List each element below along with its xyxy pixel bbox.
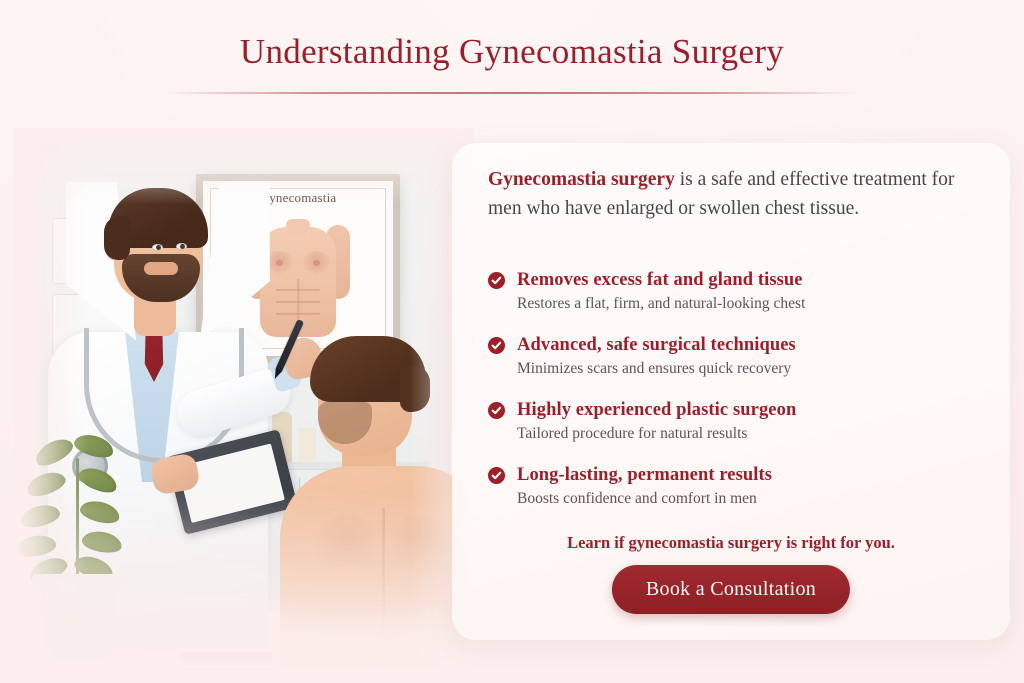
list-item: Long-lasting, permanent results Boosts c… <box>488 463 978 510</box>
benefit-title: Advanced, safe surgical techniques <box>517 333 978 357</box>
benefit-subtitle: Boosts confidence and comfort in men <box>517 488 978 510</box>
check-circle-icon <box>488 402 505 419</box>
benefit-subtitle: Minimizes scars and ensures quick recove… <box>517 358 978 380</box>
patient-figure <box>270 328 470 672</box>
title-divider <box>168 92 856 94</box>
content-card: Gynecomastia surgery is a safe and effec… <box>452 143 1010 640</box>
benefit-subtitle: Restores a flat, firm, and natural-looki… <box>517 293 978 315</box>
patient-hair <box>310 336 426 402</box>
closing-line: Learn if gynecomastia surgery is right f… <box>452 533 1010 553</box>
list-item: Advanced, safe surgical techniques Minim… <box>488 333 978 380</box>
check-circle-icon <box>488 337 505 354</box>
consultation-illustration: Gynecomastia <box>18 132 470 672</box>
doctor-belt <box>180 652 272 665</box>
benefit-title: Removes excess fat and gland tissue <box>517 268 978 292</box>
plant-pot <box>38 580 122 664</box>
benefit-title: Long-lasting, permanent results <box>517 463 978 487</box>
intro-paragraph: Gynecomastia surgery is a safe and effec… <box>488 165 968 223</box>
check-circle-icon <box>488 467 505 484</box>
book-consultation-button[interactable]: Book a Consultation <box>612 565 850 614</box>
infographic-canvas: Understanding Gynecomastia Surgery Gynec… <box>0 0 1024 683</box>
intro-lead: Gynecomastia surgery <box>488 169 675 190</box>
benefit-title: Highly experienced plastic surgeon <box>517 398 978 422</box>
list-item: Removes excess fat and gland tissue Rest… <box>488 268 978 315</box>
benefits-list: Removes excess fat and gland tissue Rest… <box>488 268 978 528</box>
list-item: Highly experienced plastic surgeon Tailo… <box>488 398 978 445</box>
page-title: Understanding Gynecomastia Surgery <box>0 32 1024 72</box>
benefit-subtitle: Tailored procedure for natural results <box>517 423 978 445</box>
potted-plant <box>18 432 144 664</box>
check-circle-icon <box>488 272 505 289</box>
